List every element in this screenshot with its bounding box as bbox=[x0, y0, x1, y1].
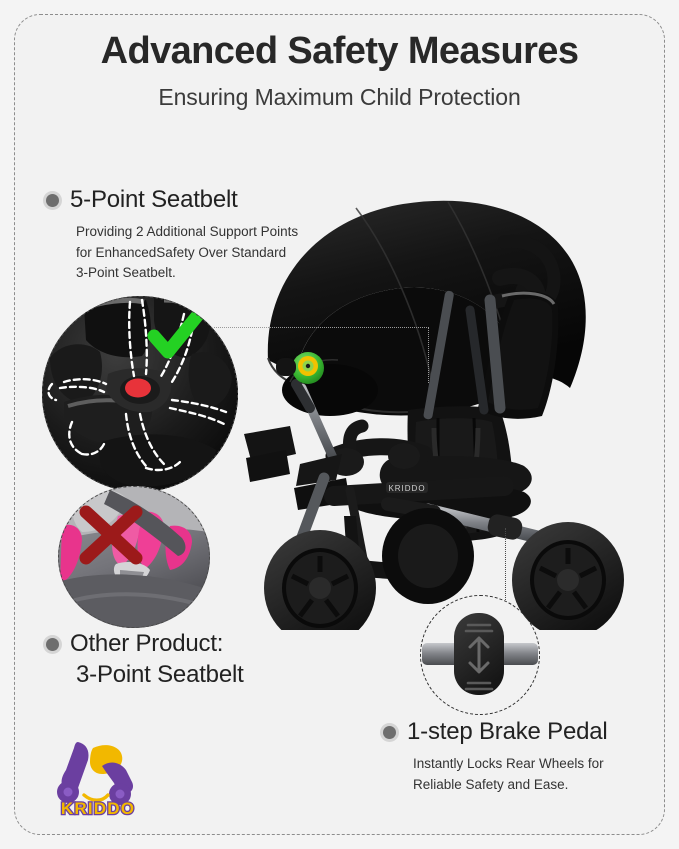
feature-seatbelt-body-line1: Providing 2 Additional Support Points bbox=[76, 222, 363, 243]
feature-seatbelt-title: 5-Point Seatbelt bbox=[70, 186, 238, 214]
feature-brake-pedal: 1-step Brake Pedal Instantly Locks Rear … bbox=[380, 718, 660, 795]
connector-line-seatbelt-horizontal bbox=[214, 327, 429, 328]
page-title: Advanced Safety Measures bbox=[0, 30, 679, 73]
feature-seatbelt-body: Providing 2 Additional Support Points fo… bbox=[76, 222, 363, 284]
logo-stroller-icon bbox=[57, 742, 133, 805]
connector-line-seatbelt-vertical bbox=[428, 327, 429, 383]
harness-illustration bbox=[42, 296, 238, 492]
svg-text:KRIDDO: KRIDDO bbox=[388, 484, 425, 493]
brand-logo-kriddo: KRIDDO bbox=[44, 738, 152, 816]
feature-brake-body-line1: Instantly Locks Rear Wheels for bbox=[413, 754, 660, 775]
feature-other-subtitle: 3-Point Seatbelt bbox=[76, 661, 343, 689]
inset-photo-5point-harness bbox=[42, 296, 238, 492]
bullet-icon bbox=[383, 726, 396, 739]
feature-other-product: Other Product: 3-Point Seatbelt bbox=[43, 630, 343, 689]
feature-other-title: Other Product: bbox=[70, 630, 223, 658]
wheel-middle bbox=[382, 508, 474, 604]
bullet-icon bbox=[46, 194, 59, 207]
inset-brake-pedal bbox=[420, 595, 540, 715]
other-product-illustration bbox=[58, 486, 210, 628]
feature-seatbelt-head: 5-Point Seatbelt bbox=[43, 186, 363, 214]
feature-other-head: Other Product: bbox=[43, 630, 343, 658]
connector-line-brake-vertical bbox=[505, 528, 506, 600]
logo-wordmark: KRIDDO bbox=[61, 799, 135, 816]
feature-seatbelt-body-line2: for EnhancedSafety Over Standard bbox=[76, 243, 363, 264]
feature-brake-body: Instantly Locks Rear Wheels for Reliable… bbox=[413, 754, 660, 795]
feature-brake-head: 1-step Brake Pedal bbox=[380, 718, 660, 746]
buckle-button bbox=[125, 379, 151, 398]
feature-seatbelt-body-line3: 3-Point Seatbelt. bbox=[76, 263, 363, 284]
feature-brake-body-line2: Reliable Safety and Ease. bbox=[413, 775, 660, 796]
bullet-icon bbox=[46, 638, 59, 651]
brake-highlight-ring bbox=[420, 595, 540, 715]
feature-seatbelt: 5-Point Seatbelt Providing 2 Additional … bbox=[43, 186, 363, 284]
inset-photo-other-product bbox=[58, 486, 210, 628]
infographic-page: Advanced Safety Measures Ensuring Maximu… bbox=[0, 0, 679, 849]
feature-brake-title: 1-step Brake Pedal bbox=[407, 718, 608, 746]
page-subtitle: Ensuring Maximum Child Protection bbox=[0, 84, 679, 111]
